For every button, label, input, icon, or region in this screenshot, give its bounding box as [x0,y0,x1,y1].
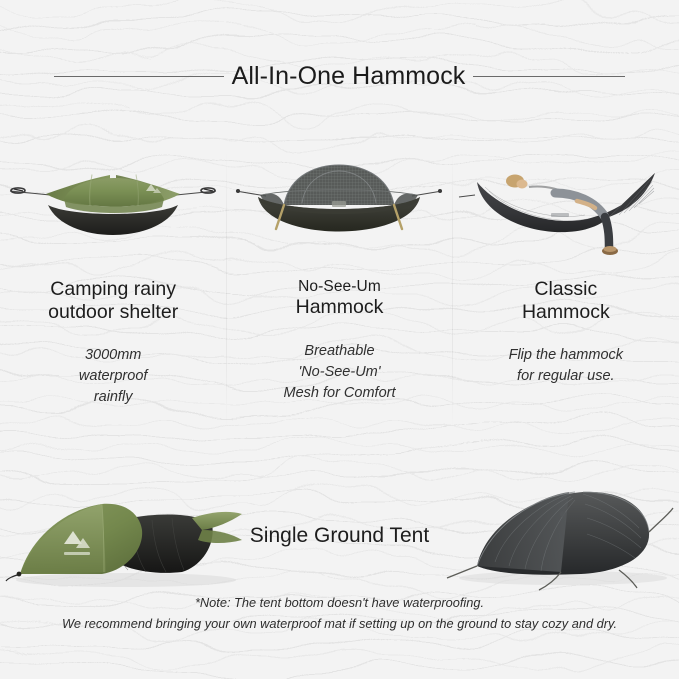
subtext-line-1: 3000mm [79,345,148,366]
column-subtext: 3000mm waterproof rainfly [79,345,148,408]
column-heading: Classic Hammock [522,278,610,323]
column-subtext: Breathable 'No-See-Um' Mesh for Comfort [283,341,395,404]
heading-line-2: Hammock [296,296,384,319]
subtext-line-2: 'No-See-Um' [283,362,395,383]
heading-line-1: Classic [522,278,610,301]
page-title: All-In-One Hammock [232,64,466,89]
subtext-line-1: Flip the hammock [509,345,623,366]
feature-columns: Camping rainy outdoor shelter 3000mm wat… [0,148,679,438]
mesh-canopy-hammock-image [226,148,452,270]
title-rule-left [54,76,224,77]
heading-line-2: Hammock [522,301,610,324]
footnote-line-1: *Note: The tent bottom doesn't have wate… [0,592,679,613]
title-rule-right [473,76,625,77]
carabiner-left-icon [11,188,25,193]
feature-column-no-see-um-hammock: No-See-Um Hammock Breathable 'No-See-Um'… [226,148,452,438]
bottom-section: Single Ground Tent [0,452,679,612]
classic-hammock-with-person-image [453,148,679,270]
hammock-label [332,201,346,207]
subtext-line-1: Breathable [283,341,395,362]
header: All-In-One Hammock [0,55,679,97]
subtext-line-2: waterproof [79,366,148,387]
lower-leg [605,217,609,247]
column-heading: No-See-Um Hammock [296,278,384,319]
head [516,180,527,189]
subtext-line-2: for regular use. [509,366,623,387]
cord-end-left-icon [236,189,240,193]
column-subtext: Flip the hammock for regular use. [509,345,623,387]
subtext-line-3: rainfly [79,387,148,408]
bottom-section-title: Single Ground Tent [0,524,679,548]
feature-column-classic-hammock: Classic Hammock Flip the hammock for reg… [453,148,679,438]
footnote-line-2: We recommend bringing your own waterproo… [0,613,679,634]
infographic-page: All-In-One Hammock [0,0,679,679]
carabiner-right-icon [201,188,215,193]
brand-wordmark [64,552,90,555]
heading-line-1: No-See-Um [296,278,384,296]
subtext-line-3: Mesh for Comfort [283,383,395,404]
heading-line-2: outdoor shelter [48,301,178,324]
column-heading: Camping rainy outdoor shelter [48,278,178,323]
cord-end-right-icon [438,189,442,193]
green-rainfly-hammock-image [0,148,226,270]
footnote: *Note: The tent bottom doesn't have wate… [0,592,679,634]
feature-column-camping-rainy-outdoor-shelter: Camping rainy outdoor shelter 3000mm wat… [0,148,226,438]
hammock-label [551,213,569,217]
heading-line-1: Camping rainy [48,278,178,301]
